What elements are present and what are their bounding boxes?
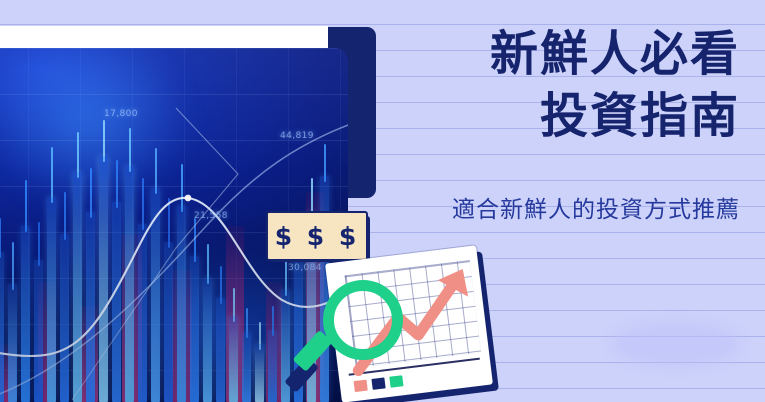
subtitle-text: 適合新鮮人的投資方式推薦: [452, 190, 740, 224]
poster-canvas: 17,800 21,558 30,084 44,819 89 $ $ $: [0, 0, 765, 402]
headline-line-1: 新鮮人必看: [490, 30, 740, 78]
magnifier-ring: [323, 280, 403, 360]
headline-block: 新鮮人必看 投資指南 適合新鮮人的投資方式推薦: [400, 0, 765, 402]
headline-line-2: 投資指南: [540, 92, 740, 140]
